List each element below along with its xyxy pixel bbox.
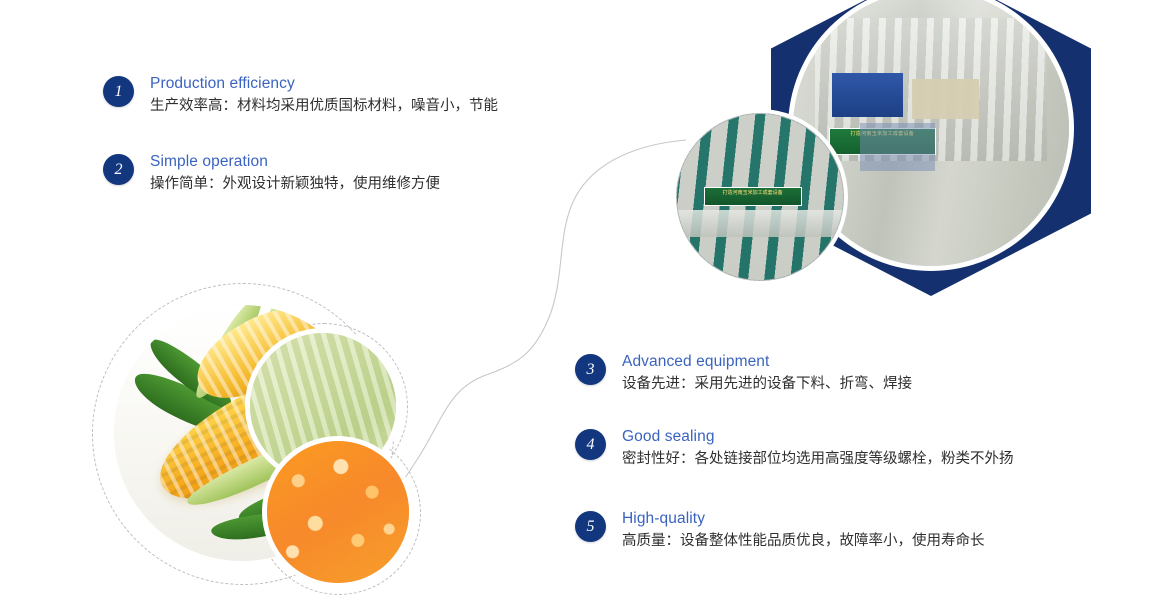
feature-item-5: 5 High-quality 高质量：设备整体性能品质优良，故障率小，使用寿命长 xyxy=(575,509,985,552)
green-mill-banner-text: 打造河南玉米加工成套设备 xyxy=(705,188,801,196)
feature-description-4: 密封性好：各处链接部位均选用高强度等级螺栓，粉类不外扬 xyxy=(622,448,1014,470)
feature-item-4: 4 Good sealing 密封性好：各处链接部位均选用高强度等级螺栓，粉类不… xyxy=(575,427,1014,470)
feature-description-1: 生产效率高：材料均采用优质国标材料，噪音小，节能 xyxy=(150,95,498,117)
feature-title-3: Advanced equipment xyxy=(622,352,912,372)
corn-grits-photo xyxy=(267,441,409,583)
feature-title-2: Simple operation xyxy=(150,152,440,172)
feature-description-3: 设备先进：采用先进的设备下料、折弯、焊接 xyxy=(622,373,912,395)
feature-title-4: Good sealing xyxy=(622,427,1014,447)
feature-text-2: Simple operation 操作简单：外观设计新颖独特，使用维修方便 xyxy=(150,152,440,195)
feature-badge-2: 2 xyxy=(103,154,134,185)
feature-item-3: 3 Advanced equipment 设备先进：采用先进的设备下料、折弯、焊… xyxy=(575,352,912,395)
green-mill-banner: 打造河南玉米加工成套设备 xyxy=(704,187,802,206)
feature-text-1: Production efficiency 生产效率高：材料均采用优质国标材料，… xyxy=(150,74,498,117)
feature-text-3: Advanced equipment 设备先进：采用先进的设备下料、折弯、焊接 xyxy=(622,352,912,395)
corn-image-cluster xyxy=(92,283,472,591)
feature-item-2: 2 Simple operation 操作简单：外观设计新颖独特，使用维修方便 xyxy=(103,152,440,195)
feature-badge-1: 1 xyxy=(103,76,134,107)
feature-badge-4: 4 xyxy=(575,429,606,460)
feature-title-5: High-quality xyxy=(622,509,985,529)
feature-description-2: 操作简单：外观设计新颖独特，使用维修方便 xyxy=(150,173,440,195)
promo-banner: 打造河南玉米加工成套设备 打造河南玉米加工成套设备 xyxy=(0,0,1154,591)
feature-badge-3: 3 xyxy=(575,354,606,385)
feature-badge-5: 5 xyxy=(575,511,606,542)
feature-item-1: 1 Production efficiency 生产效率高：材料均采用优质国标材… xyxy=(103,74,498,117)
feature-text-4: Good sealing 密封性好：各处链接部位均选用高强度等级螺栓，粉类不外扬 xyxy=(622,427,1014,470)
mill-banner: 打造河南玉米加工成套设备 xyxy=(829,128,936,155)
green-mill-line-photo: 打造河南玉米加工成套设备 xyxy=(676,113,844,281)
feature-title-1: Production efficiency xyxy=(150,74,498,94)
feature-text-5: High-quality 高质量：设备整体性能品质优良，故障率小，使用寿命长 xyxy=(622,509,985,552)
feature-description-5: 高质量：设备整体性能品质优良，故障率小，使用寿命长 xyxy=(622,530,985,552)
mill-banner-text: 打造河南玉米加工成套设备 xyxy=(830,129,935,137)
